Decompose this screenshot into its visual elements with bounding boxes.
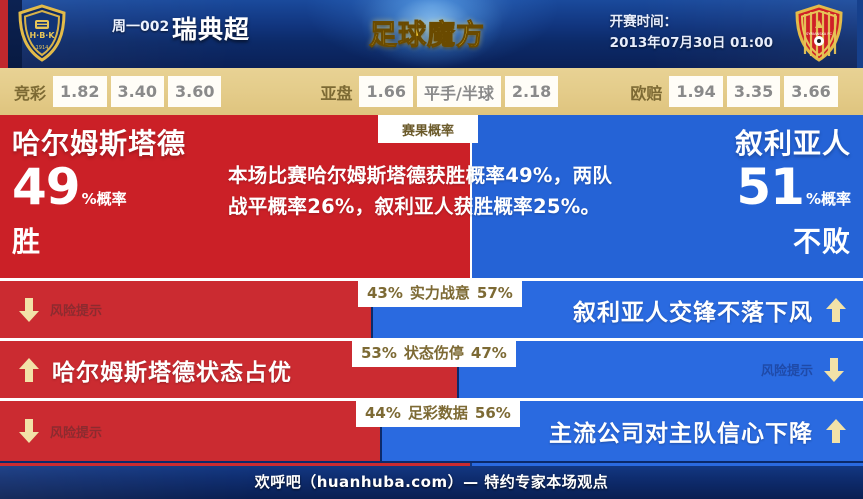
odds-value[interactable]: 平手/半球 <box>417 76 501 107</box>
away-percent-suffix: %概率 <box>806 190 851 208</box>
comparison-row-2: 53% 状态伤停 47% 哈尔姆斯塔德状态占优 风险提示 <box>0 341 863 398</box>
svg-text:1914: 1914 <box>36 45 49 51</box>
odds-value[interactable]: 1.82 <box>53 76 106 107</box>
brand-logo: 足球魔方 <box>352 8 502 58</box>
home-team-name: 哈尔姆斯塔德 <box>12 127 186 161</box>
row-3-risk-warning: 风险提示 <box>18 401 102 461</box>
away-outcome-label: 不败 <box>735 225 851 259</box>
svg-text:H·B·K: H·B·K <box>29 31 55 40</box>
home-percent-value: 49 <box>12 158 80 216</box>
away-team-crest-icon: SYRIANSKA FC <box>793 4 845 62</box>
footer-accent-blue <box>472 463 863 466</box>
footer-bar: 欢呼吧（huanhuba.com）— 特约专家本场观点 <box>0 463 863 499</box>
row-3-home-percent: 44% <box>365 404 401 422</box>
row-2-away-percent: 47% <box>471 344 507 362</box>
odds-value[interactable]: 3.40 <box>111 76 164 107</box>
odds-value[interactable]: 1.66 <box>359 76 412 107</box>
row-1-metric-label: 43% 实力战意 57% <box>358 278 522 307</box>
odds-bar: 竞彩 1.82 3.40 3.60 亚盘 1.66 平手/半球 2.18 欧赔 … <box>0 68 863 115</box>
row-1-home-percent: 43% <box>367 284 403 302</box>
arrow-up-icon <box>825 296 847 324</box>
odds-value[interactable]: 2.18 <box>505 76 558 107</box>
odds-group-jingcai: 竞彩 1.82 3.40 3.60 <box>14 76 225 107</box>
arrow-down-icon <box>18 296 40 324</box>
row-3-away-percent: 56% <box>475 404 511 422</box>
footer-text: 欢呼吧（huanhuba.com）— 特约专家本场观点 <box>255 471 609 492</box>
tab-result-probability[interactable]: 赛果概率 <box>378 115 478 143</box>
row-1-away-percent: 57% <box>477 284 513 302</box>
kickoff-label: 开赛时间： <box>610 12 773 33</box>
away-team-name: 叙利亚人 <box>735 127 851 161</box>
league-name: 瑞典超 <box>172 10 250 46</box>
row-1-risk-warning: 风险提示 <box>18 281 102 338</box>
row-3-metric-label: 44% 足彩数据 56% <box>356 398 520 427</box>
arrow-up-icon <box>18 356 40 384</box>
arrow-down-icon <box>823 356 845 384</box>
row-3-headline: 主流公司对主队信心下降 <box>549 401 847 461</box>
odds-group-title: 竞彩 <box>14 80 46 104</box>
row-2-metric-name: 状态伤停 <box>404 342 464 363</box>
home-percent-suffix: %概率 <box>82 190 127 208</box>
row-3-risk-text: 风险提示 <box>50 422 102 441</box>
header-left-accent <box>0 0 8 68</box>
odds-value[interactable]: 1.94 <box>669 76 722 107</box>
kickoff-value: 2013年07月30日 01:00 <box>610 33 773 54</box>
row-1-metric-name: 实力战意 <box>410 282 470 303</box>
arrow-down-icon <box>18 417 40 445</box>
home-percent-line: 49%概率 <box>12 161 186 225</box>
probability-summary-text: 本场比赛哈尔姆斯塔德获胜概率49%，两队战平概率26%，叙利亚人获胜概率25%。 <box>228 160 618 222</box>
footer-accent-red <box>0 463 470 466</box>
odds-group-title: 欧赔 <box>630 80 662 104</box>
row-1-headline-text: 叙利亚人交锋不落下风 <box>573 293 813 327</box>
row-2-headline-text: 哈尔姆斯塔德状态占优 <box>52 353 292 387</box>
row-2-risk-warning: 风险提示 <box>761 341 845 398</box>
away-probability-block: 叙利亚人 51%概率 不败 <box>735 127 851 259</box>
row-2-home-percent: 53% <box>361 344 397 362</box>
comparison-row-1: 43% 实力战意 57% 风险提示 叙利亚人交锋不落下风 <box>0 281 863 338</box>
home-outcome-label: 胜 <box>12 225 186 259</box>
away-percent-line: 51%概率 <box>735 161 851 225</box>
row-3-metric-name: 足彩数据 <box>408 402 468 423</box>
away-percent-value: 51 <box>736 158 804 216</box>
infographic-page: H·B·K 1914 周一002 瑞典超 足球魔方 开赛时间： 2013年07月… <box>0 0 863 499</box>
odds-group-oupei: 欧赔 1.94 3.35 3.66 <box>630 76 841 107</box>
row-2-metric-label: 53% 状态伤停 47% <box>352 338 516 367</box>
arrow-up-icon <box>825 417 847 445</box>
row-1-headline: 叙利亚人交锋不落下风 <box>573 281 847 338</box>
odds-group-yapan: 亚盘 1.66 平手/半球 2.18 <box>320 76 562 107</box>
row-2-headline: 哈尔姆斯塔德状态占优 <box>18 341 292 398</box>
odds-value[interactable]: 3.60 <box>168 76 221 107</box>
comparison-row-3: 44% 足彩数据 56% 风险提示 主流公司对主队信心下降 <box>0 401 863 461</box>
row-1-risk-text: 风险提示 <box>50 300 102 319</box>
kickoff-time: 开赛时间： 2013年07月30日 01:00 <box>610 12 773 54</box>
home-team-crest-icon: H·B·K 1914 <box>16 4 68 62</box>
row-2-risk-text: 风险提示 <box>761 360 813 379</box>
home-probability-block: 哈尔姆斯塔德 49%概率 胜 <box>12 127 186 259</box>
match-probability-panel: 赛果概率 哈尔姆斯塔德 49%概率 胜 叙利亚人 51%概率 不败 本场比赛哈尔… <box>0 115 863 278</box>
row-3-headline-text: 主流公司对主队信心下降 <box>549 414 813 448</box>
header-bar: H·B·K 1914 周一002 瑞典超 足球魔方 开赛时间： 2013年07月… <box>0 0 863 68</box>
brand-logo-text: 足球魔方 <box>369 13 485 53</box>
odds-value[interactable]: 3.35 <box>727 76 780 107</box>
header-right-accent <box>857 0 863 68</box>
svg-text:SYRIANSKA FC: SYRIANSKA FC <box>806 32 832 36</box>
match-number-label: 周一002 <box>112 16 169 36</box>
odds-group-title: 亚盘 <box>320 80 352 104</box>
odds-value[interactable]: 3.66 <box>784 76 837 107</box>
